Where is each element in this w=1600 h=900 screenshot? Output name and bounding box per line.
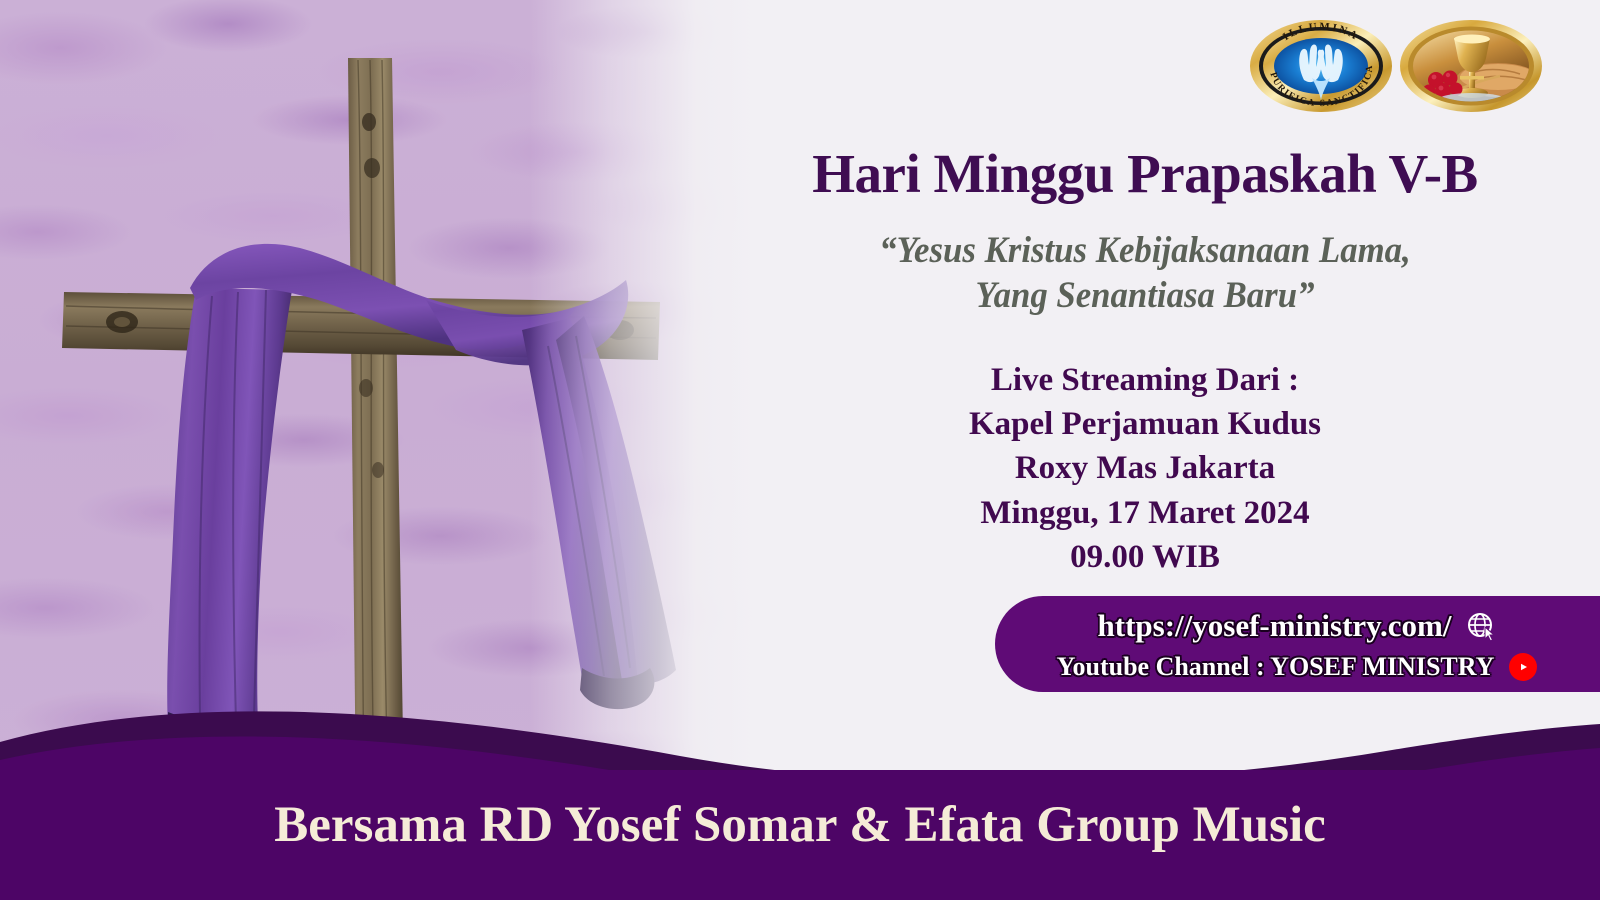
youtube-icon [1508,652,1538,682]
youtube-channel[interactable]: Youtube Channel : YOSEF MINISTRY [1057,652,1495,682]
theme-line-2: Yang Senantiasa Baru” [746,273,1545,318]
detail-venue-location: Roxy Mas Jakarta [690,446,1600,490]
detail-venue-name: Kapel Perjamuan Kudus [690,402,1600,446]
event-details: Live Streaming Dari : Kapel Perjamuan Ku… [690,358,1600,579]
theme-line-1: “Yesus Kristus Kebijaksanaan Lama, [746,228,1545,273]
presenter-banner: Bersama RD Yosef Somar & Efata Group Mus… [0,796,1600,854]
website-row[interactable]: https://yosef-ministry.com/ [995,603,1600,649]
event-theme-quote: “Yesus Kristus Kebijaksanaan Lama, Yang … [746,228,1545,318]
poster-root: Hari Minggu Prapaskah V-B “Yesus Kristus… [0,0,1600,900]
website-url[interactable]: https://yosef-ministry.com/ [1098,608,1452,644]
detail-live-streaming-label: Live Streaming Dari : [690,358,1600,402]
contact-pill[interactable]: https://yosef-ministry.com/ Youtube Chan… [995,596,1600,692]
event-title: Hari Minggu Prapaskah V-B [690,142,1600,205]
detail-time: 09.00 WIB [690,535,1600,579]
globe-icon [1465,610,1497,642]
illumina-purifica-sanctifica-emblem: ILLUMINA PURIFICA SANCTIFICA [1248,18,1394,114]
detail-date: Minggu, 17 Maret 2024 [690,491,1600,535]
eucharist-chalice-bread-emblem [1398,18,1544,114]
cross-photograph [0,0,760,800]
youtube-row[interactable]: Youtube Channel : YOSEF MINISTRY [995,646,1600,688]
